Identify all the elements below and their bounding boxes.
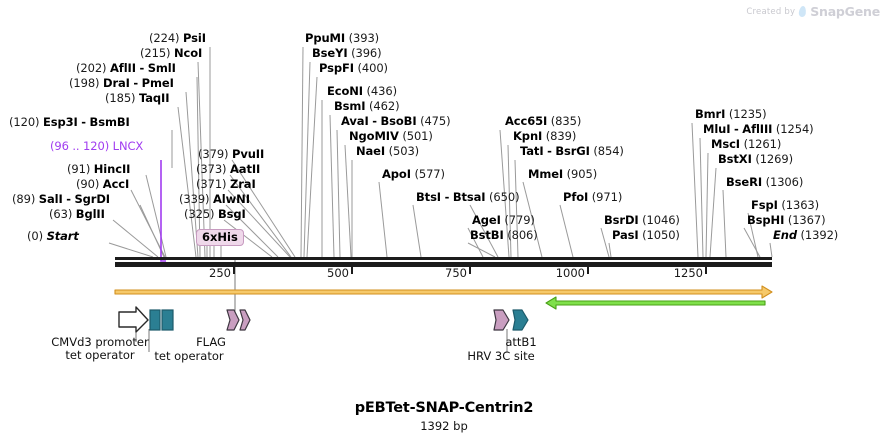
enzyme-name: NcoI <box>174 46 202 60</box>
enzyme-label[interactable]: (89) SalI - SgrDI <box>12 193 110 205</box>
feature-caption-flag: FLAG <box>196 336 226 349</box>
ruler-tick <box>469 262 471 274</box>
tag-6xhis[interactable]: 6xHis <box>196 229 244 246</box>
enzyme-label[interactable]: MluI - AflIII (1254) <box>703 123 814 135</box>
enzyme-name: ApoI <box>382 167 411 181</box>
enzyme-position: (198) <box>69 76 99 90</box>
enzyme-label[interactable]: ApoI (577) <box>382 168 445 180</box>
enzyme-name: BsrGI <box>555 144 590 158</box>
enzyme-name: BspHI <box>747 213 784 227</box>
enzyme-name: AgeI <box>472 213 501 227</box>
enzyme-label[interactable]: PasI (1050) <box>612 229 680 241</box>
enzyme-label[interactable]: BstXI (1269) <box>718 153 793 165</box>
enzyme-position: (650) <box>489 190 519 204</box>
feature-caption-line: tet operator <box>51 349 148 362</box>
enzyme-name: PsiI <box>183 31 206 45</box>
feature-glyph-hrv-3c-site[interactable] <box>494 310 509 330</box>
enzyme-label[interactable]: MmeI (905) <box>528 168 597 180</box>
ruler-tick <box>233 262 235 274</box>
enzyme-name: TaqII <box>139 91 169 105</box>
enzyme-label[interactable]: BmrI (1235) <box>695 108 767 120</box>
enzyme-label[interactable]: PspFI (400) <box>319 62 388 74</box>
enzyme-name: MmeI <box>528 167 563 181</box>
enzyme-position: (971) <box>592 190 622 204</box>
enzyme-label[interactable]: KpnI (839) <box>513 130 576 142</box>
lncx-annotation-line <box>161 160 166 261</box>
enzyme-name: BsmI <box>334 99 365 113</box>
feature-glyph-cmvd3-promoter[interactable] <box>119 307 148 332</box>
enzyme-name: BstXI <box>718 152 752 166</box>
enzyme-position: (1269) <box>755 152 793 166</box>
enzyme-position: (1363) <box>781 198 819 212</box>
enzyme-position: (1235) <box>729 107 767 121</box>
enzyme-name: BsmBI <box>90 115 130 129</box>
enzyme-position: (0) <box>27 229 43 243</box>
enzyme-position: (806) <box>507 228 537 242</box>
enzyme-label[interactable]: Acc65I (835) <box>505 115 581 127</box>
enzyme-name: PfoI <box>563 190 588 204</box>
enzyme-position: (1392) <box>801 228 839 242</box>
enzyme-name: BseRI <box>726 175 762 189</box>
ruler-tick <box>705 262 707 274</box>
enzyme-label[interactable]: (202) AflII - SmlI <box>76 62 176 74</box>
annotation-name: LNCX <box>113 139 144 153</box>
enzyme-position: (373) <box>196 162 226 176</box>
enzyme-position: (215) <box>140 46 170 60</box>
ruler-tick-label: 250 <box>209 266 231 280</box>
plasmid-map: Created by SnapGene <box>0 0 888 440</box>
enzyme-position: (1050) <box>642 228 680 242</box>
enzyme-label[interactable]: (91) HincII <box>67 163 130 175</box>
snapgene-droplet-icon <box>798 6 806 18</box>
enzyme-name: TatI <box>520 144 544 158</box>
enzyme-name: AvaI <box>341 114 369 128</box>
enzyme-position: (835) <box>551 114 581 128</box>
feature-glyph-flag-2[interactable] <box>240 310 250 330</box>
ruler-tick-label: 1000 <box>556 266 585 280</box>
enzyme-label[interactable]: (373) AatII <box>196 163 260 175</box>
enzyme-name: HincII <box>94 162 131 176</box>
enzyme-position: (202) <box>76 61 106 75</box>
enzyme-name: BtsaI <box>453 190 486 204</box>
enzyme-name: Start <box>47 229 79 243</box>
annotation-label-lncx[interactable]: (96 .. 120) LNCX <box>50 140 143 152</box>
enzyme-label[interactable]: NaeI (503) <box>356 145 419 157</box>
enzyme-name: PasI <box>612 228 639 242</box>
page-title: pEBTet-SNAP-Centrin2 <box>0 400 888 416</box>
enzyme-label[interactable]: PpuMI (393) <box>305 32 379 44</box>
ruler-tick-label: 750 <box>445 266 467 280</box>
ruler-tick-label: 1250 <box>674 266 703 280</box>
enzyme-name: SgrDI <box>74 192 110 206</box>
watermark-brand: SnapGene <box>810 4 880 19</box>
enzyme-name: AflII <box>110 61 136 75</box>
enzyme-position: (503) <box>389 144 419 158</box>
enzyme-name: ZraI <box>230 177 256 191</box>
enzyme-position: (1367) <box>788 213 826 227</box>
feature-glyph-attb1[interactable] <box>513 310 528 330</box>
sequence-backbone-top <box>115 257 772 260</box>
enzyme-position: (396) <box>351 46 381 60</box>
enzyme-position: (1046) <box>642 213 680 227</box>
enzyme-label[interactable]: FspI (1363) <box>751 199 819 211</box>
enzyme-label[interactable]: (379) PvuII <box>198 148 264 160</box>
enzyme-position: (120) <box>9 115 39 129</box>
enzyme-label[interactable]: (215) NcoI <box>140 47 202 59</box>
enzyme-name: BseYI <box>312 46 348 60</box>
enzyme-label[interactable]: (339) AlwNI <box>179 193 250 205</box>
reverse-orf-arrow[interactable] <box>546 297 765 309</box>
enzyme-position: (905) <box>567 167 597 181</box>
enzyme-position: (462) <box>369 99 399 113</box>
enzyme-position: (436) <box>367 84 397 98</box>
enzyme-label[interactable]: (63) BglII <box>49 208 105 220</box>
enzyme-name: BsgI <box>218 207 246 221</box>
enzyme-position: (371) <box>196 177 226 191</box>
enzyme-position: (63) <box>49 207 72 221</box>
enzyme-position: (475) <box>420 114 450 128</box>
enzyme-label[interactable]: BspHI (1367) <box>747 214 825 226</box>
enzyme-label[interactable]: AgeI (779) <box>472 214 535 226</box>
ruler-tick-label: 500 <box>327 266 349 280</box>
enzyme-name: PmeI <box>142 76 174 90</box>
enzyme-name: AlwNI <box>213 192 250 206</box>
page-subtitle: 1392 bp <box>0 419 888 433</box>
enzyme-position: (90) <box>76 177 99 191</box>
enzyme-label[interactable]: PfoI (971) <box>563 191 622 203</box>
forward-orf-arrow[interactable] <box>115 286 772 298</box>
enzyme-name: KpnI <box>513 129 542 143</box>
feature-caption-hrv-3c-site: HRV 3C site <box>467 350 534 363</box>
enzyme-label[interactable]: BstBI (806) <box>470 229 538 241</box>
feature-caption-tet-operator: tet operator <box>154 350 223 363</box>
enzyme-label[interactable]: BseRI (1306) <box>726 176 803 188</box>
enzyme-name: BmrI <box>695 107 725 121</box>
enzyme-name: Acc65I <box>505 114 547 128</box>
enzyme-label[interactable]: BsmI (462) <box>334 100 399 112</box>
enzyme-label[interactable]: (90) AccI <box>76 178 129 190</box>
enzyme-label[interactable]: (185) TaqII <box>105 92 169 104</box>
enzyme-name: DraI <box>103 76 130 90</box>
enzyme-position: (185) <box>105 91 135 105</box>
enzyme-name: MluI <box>703 122 730 136</box>
enzyme-label[interactable]: BsrDI (1046) <box>604 214 680 226</box>
snapgene-watermark: Created by SnapGene <box>746 4 880 19</box>
enzyme-name: PpuMI <box>305 31 345 45</box>
enzyme-name: MscI <box>711 137 740 151</box>
enzyme-position: (854) <box>593 144 623 158</box>
enzyme-name: BsoBI <box>380 114 416 128</box>
enzyme-name: NgoMIV <box>349 129 399 143</box>
enzyme-label[interactable]: (325) BsgI <box>184 208 246 220</box>
enzyme-label[interactable]: (120) Esp3I - BsmBI <box>9 116 130 128</box>
feature-caption-cmvd3-promoter: CMVd3 promoter tet operator <box>51 336 148 362</box>
enzyme-position: (1261) <box>744 137 782 151</box>
enzyme-position: (379) <box>198 147 228 161</box>
ruler-tick <box>587 262 589 274</box>
enzyme-name: EcoNI <box>327 84 363 98</box>
enzyme-position: (1254) <box>776 122 814 136</box>
enzyme-name: BsrDI <box>604 213 639 227</box>
enzyme-position: (400) <box>358 61 388 75</box>
enzyme-label[interactable]: EcoNI (436) <box>327 85 397 97</box>
enzyme-name: BstBI <box>470 228 504 242</box>
enzyme-label[interactable]: NgoMIV (501) <box>349 130 433 142</box>
enzyme-position: (91) <box>67 162 90 176</box>
enzyme-label-start[interactable]: (0) Start <box>27 230 79 242</box>
enzyme-position: (501) <box>402 129 432 143</box>
enzyme-name: BtsI <box>416 190 441 204</box>
enzyme-position: (577) <box>414 167 444 181</box>
feature-glyph-flag-1[interactable] <box>227 310 239 330</box>
enzyme-label-end[interactable]: End (1392) <box>773 229 838 241</box>
enzyme-label[interactable]: (198) DraI - PmeI <box>69 77 174 89</box>
enzyme-name: AccI <box>103 177 129 191</box>
enzyme-name: SalI <box>39 192 63 206</box>
feature-glyph-tet-operator-1[interactable] <box>150 310 160 330</box>
ruler-tick <box>351 262 353 274</box>
enzyme-name: FspI <box>751 198 778 212</box>
enzyme-position: (325) <box>184 207 214 221</box>
enzyme-position: (89) <box>12 192 35 206</box>
enzyme-position: (779) <box>504 213 534 227</box>
enzyme-name: Esp3I <box>43 115 78 129</box>
enzyme-label[interactable]: (224) PsiI <box>149 32 206 44</box>
enzyme-name: End <box>773 228 797 242</box>
feature-glyph-tet-operator-2[interactable] <box>162 310 173 330</box>
enzyme-position: (1306) <box>766 175 804 189</box>
enzyme-name: AatII <box>230 162 260 176</box>
enzyme-name: NaeI <box>356 144 385 158</box>
enzyme-position: (839) <box>546 129 576 143</box>
enzyme-label[interactable]: BseYI (396) <box>312 47 382 59</box>
enzyme-name: PspFI <box>319 61 354 75</box>
enzyme-label[interactable]: TatI - BsrGI (854) <box>520 145 624 157</box>
enzyme-label[interactable]: MscI (1261) <box>711 138 781 150</box>
enzyme-name: SmlI <box>148 61 176 75</box>
annotation-range: (96 .. 120) <box>50 139 109 153</box>
enzyme-label[interactable]: BtsI - BtsaI (650) <box>416 191 519 203</box>
enzyme-label[interactable]: AvaI - BsoBI (475) <box>341 115 451 127</box>
watermark-created-by: Created by <box>746 7 795 17</box>
enzyme-position: (339) <box>179 192 209 206</box>
enzyme-label[interactable]: (371) ZraI <box>196 178 256 190</box>
enzyme-position: (224) <box>149 31 179 45</box>
feature-caption-attb1: attB1 <box>505 336 536 349</box>
enzyme-position: (393) <box>349 31 379 45</box>
enzyme-name: BglII <box>76 207 105 221</box>
enzyme-name: PvuII <box>232 147 264 161</box>
enzyme-name: AflIII <box>742 122 772 136</box>
